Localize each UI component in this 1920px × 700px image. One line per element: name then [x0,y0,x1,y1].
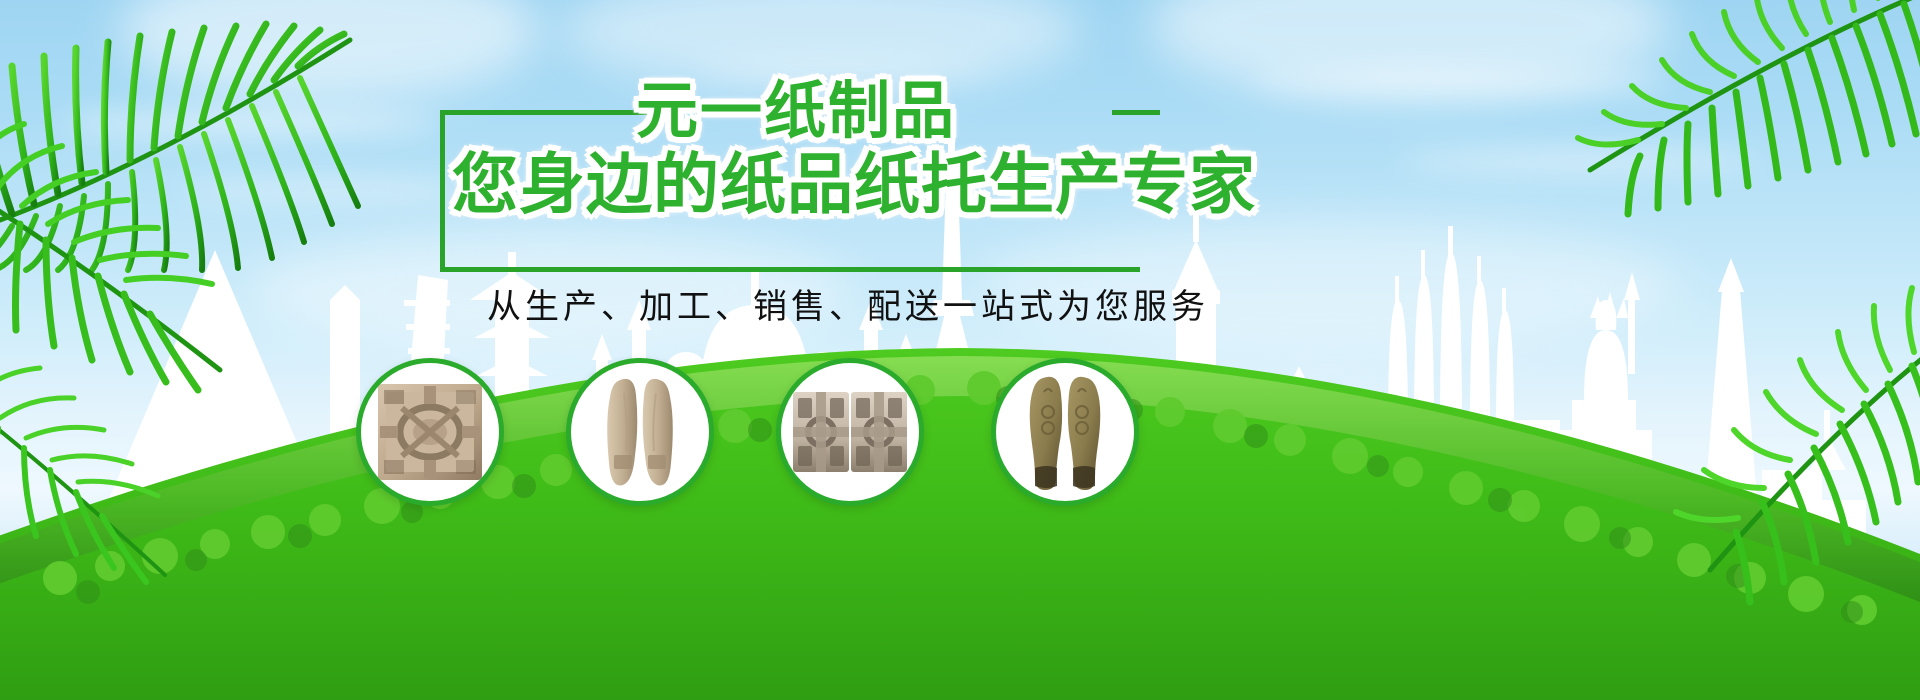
product-circle-2[interactable] [566,358,714,506]
hill-body [0,348,1920,700]
palm-frond-right [1650,330,1920,620]
headline-line-2: 您身边的纸品纸托生产专家 [452,152,1256,218]
product-circle-3[interactable] [776,358,924,506]
cloud-wisp [1400,150,1760,172]
frame-border-top-left [440,110,655,115]
palm-frond-bottom-left [0,390,180,590]
subtitle-text: 从生产、加工、销售、配送一站式为您服务 [487,287,1209,328]
molded-pulp-insole-pair-icon [594,373,686,491]
shrub-bumps [43,371,1877,625]
frame-border-left [440,110,445,272]
cloud-wisp [60,110,440,136]
tower-block [330,285,360,470]
cloud-wisp [180,180,480,200]
headline-line-1: 元一纸制品 [636,80,956,142]
washington-monument-landmark [1700,258,1762,560]
right-building-cluster [1762,410,1866,584]
product-circle-4[interactable] [991,358,1139,506]
molded-pulp-shoe-form-pair-icon [1017,372,1113,492]
molded-pulp-double-tray-icon [792,390,908,474]
promo-banner: 元一纸制品 您身边的纸品纸托生产专家 从生产、加工、销售、配送一站式为您服务 [0,0,1920,700]
frame-border-bottom [440,267,1140,272]
statue-of-liberty-landmark [1556,272,1652,530]
product-circle-1[interactable] [356,358,504,506]
palm-frond-top-right [1560,0,1920,220]
shrub-shadow-bumps [76,386,1863,623]
sagrada-familia-landmark [1370,226,1560,530]
palm-frond-left-lower [0,140,240,400]
headline-block: 元一纸制品 您身边的纸品纸托生产专家 [440,92,1160,272]
frame-border-top-right [1112,110,1160,115]
big-ben-landmark [1172,212,1316,510]
pyramid-landmark [100,250,330,520]
molded-pulp-square-tray-icon [376,382,484,482]
shrub-band [0,356,1920,618]
cloud-wisp [1250,70,1670,94]
cloud-shape [120,0,540,100]
